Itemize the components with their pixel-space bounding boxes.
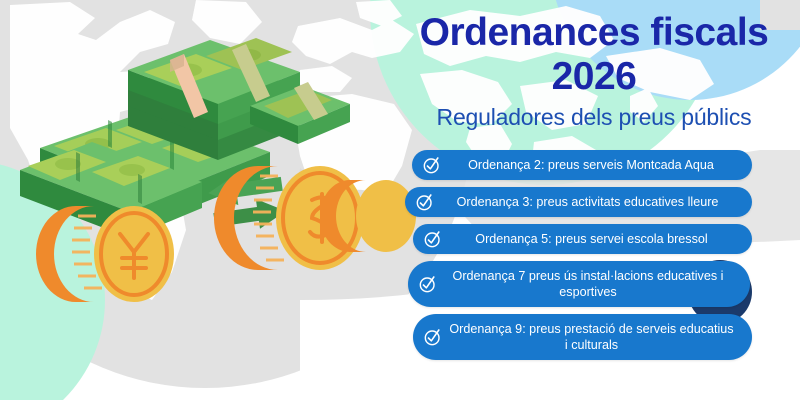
list-item[interactable]: Ordenança 5: preus servei escola bressol bbox=[413, 224, 752, 254]
money-illustration bbox=[20, 30, 380, 280]
page-title: Ordenances fiscals bbox=[388, 12, 800, 54]
list-item[interactable]: Ordenança 7 preus ús instal·lacions educ… bbox=[408, 261, 750, 307]
list-item-label: Ordenança 5: preus servei escola bressol bbox=[449, 232, 738, 247]
check-circle-icon bbox=[418, 274, 438, 294]
list-item-label: Ordenança 3: preus activitats educatives… bbox=[441, 195, 738, 210]
list-item-label: Ordenança 9: preus prestació de serveis … bbox=[449, 321, 738, 353]
check-circle-icon bbox=[415, 192, 435, 212]
list-item-label: Ordenança 7 preus ús instal·lacions educ… bbox=[444, 268, 736, 300]
page-subtitle: Reguladores dels preus públics bbox=[388, 103, 800, 131]
poster-canvas: Ordenances fiscals 2026 Reguladores dels… bbox=[0, 0, 800, 400]
list-item-label: Ordenança 2: preus serveis Montcada Aqua bbox=[448, 158, 738, 173]
list-item[interactable]: Ordenança 3: preus activitats educatives… bbox=[405, 187, 752, 217]
content-column: Ordenances fiscals 2026 Reguladores dels… bbox=[388, 0, 800, 400]
check-circle-icon bbox=[422, 155, 442, 175]
check-circle-icon bbox=[423, 327, 443, 347]
page-title-year: 2026 bbox=[388, 54, 800, 99]
list-item[interactable]: Ordenança 9: preus prestació de serveis … bbox=[413, 314, 752, 360]
list-item[interactable]: Ordenança 2: preus serveis Montcada Aqua bbox=[412, 150, 752, 180]
ordinance-list: Ordenança 2: preus serveis Montcada Aqua… bbox=[388, 150, 800, 367]
check-circle-icon bbox=[423, 229, 443, 249]
title-block: Ordenances fiscals 2026 Reguladores dels… bbox=[388, 0, 800, 131]
